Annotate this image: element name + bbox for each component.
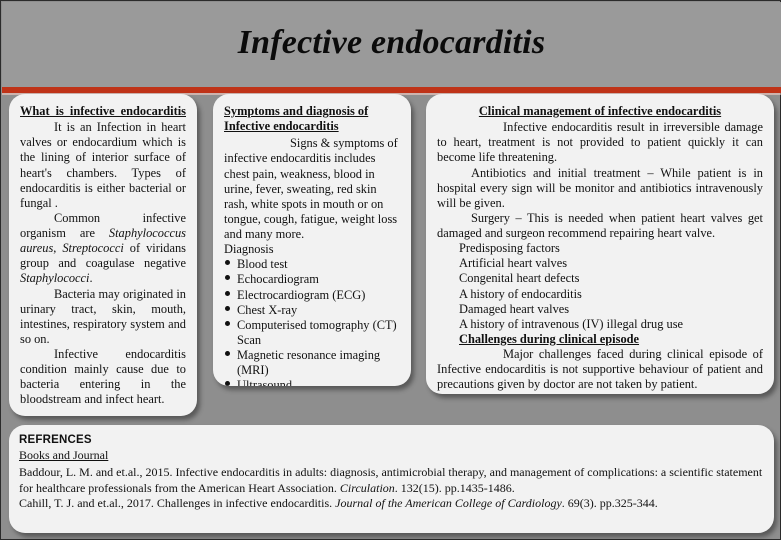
list-item: Ultrasound: [224, 378, 400, 386]
list-item: Congenital heart defects: [437, 271, 763, 286]
list-item: Echocardiogram: [224, 272, 400, 287]
bullet-dot-icon: [225, 291, 230, 296]
references-title: REFRENCES: [19, 434, 764, 446]
paragraph-origin: Bacteria may originated in urinary tract…: [20, 287, 186, 348]
poster-header: Infective endocarditis: [2, 2, 781, 88]
list-item: Computerised tomography (CT) Scan: [224, 318, 400, 348]
list-item: Damaged heart valves: [437, 302, 763, 317]
list-item: A history of endocarditis: [437, 287, 763, 302]
paragraph-surgery: Surgery – This is needed when patient he…: [437, 211, 763, 241]
paragraph-cause: Infective endocarditis condition mainly …: [20, 347, 186, 408]
page-title: Infective endocarditis: [238, 26, 546, 64]
list-item: Magnetic resonance imaging (MRI): [224, 348, 400, 378]
paragraph-antibiotics: Antibiotics and initial treatment – Whil…: [437, 166, 763, 211]
list-item: Blood test: [224, 257, 400, 272]
card-heading-symptoms: Symptoms and diagnosis of Infective endo…: [224, 104, 400, 134]
bullet-dot-icon: [225, 351, 230, 356]
predisposing-factors-list: Predisposing factors Artificial heart va…: [437, 241, 763, 347]
paragraph-challenges: Major challenges faced during clinical e…: [437, 347, 763, 392]
bullet-dot-icon: [225, 260, 230, 265]
subheading-diagnosis: Diagnosis: [224, 242, 400, 257]
factors-label: Predisposing factors: [437, 241, 763, 256]
paragraph-irreversible-damage: Infective endocarditis result in irrever…: [437, 120, 763, 165]
poster-canvas: Infective endocarditis What is infective…: [0, 0, 781, 540]
paragraph-symptoms: Signs & symptoms of infective endocardit…: [224, 136, 400, 242]
subheading-challenges: Challenges during clinical episode: [437, 332, 763, 347]
paragraph-definition: It is an Infection in heart valves or en…: [20, 120, 186, 211]
bullet-dot-icon: [225, 306, 230, 311]
card-what-is-infective-endocarditis: What is infective endocarditis It is an …: [9, 94, 197, 416]
card-symptoms-and-diagnosis: Symptoms and diagnosis of Infective endo…: [213, 94, 411, 386]
bullet-dot-icon: [225, 381, 230, 386]
reference-entry: Cahill, T. J. and et.al., 2017. Challeng…: [19, 496, 764, 512]
card-clinical-management: Clinical management of infective endocar…: [426, 94, 774, 394]
list-item: Chest X-ray: [224, 303, 400, 318]
bullet-dot-icon: [225, 275, 230, 280]
paragraph-organisms: Common infective organism are Staphyloco…: [20, 211, 186, 287]
card-heading-clinical-management: Clinical management of infective endocar…: [437, 104, 763, 119]
reference-entry: Baddour, L. M. and et.al., 2015. Infecti…: [19, 465, 764, 496]
diagnosis-list: Blood test Echocardiogram Electrocardiog…: [224, 257, 400, 386]
references-subtitle: Books and Journal: [19, 448, 764, 463]
card-references: REFRENCES Books and Journal Baddour, L. …: [9, 425, 774, 533]
list-item: A history of intravenous (IV) illegal dr…: [437, 317, 763, 332]
list-item: Electrocardiogram (ECG): [224, 288, 400, 303]
card-heading-what-is: What is infective endocarditis: [20, 104, 186, 119]
bullet-dot-icon: [225, 321, 230, 326]
list-item: Artificial heart valves: [437, 256, 763, 271]
